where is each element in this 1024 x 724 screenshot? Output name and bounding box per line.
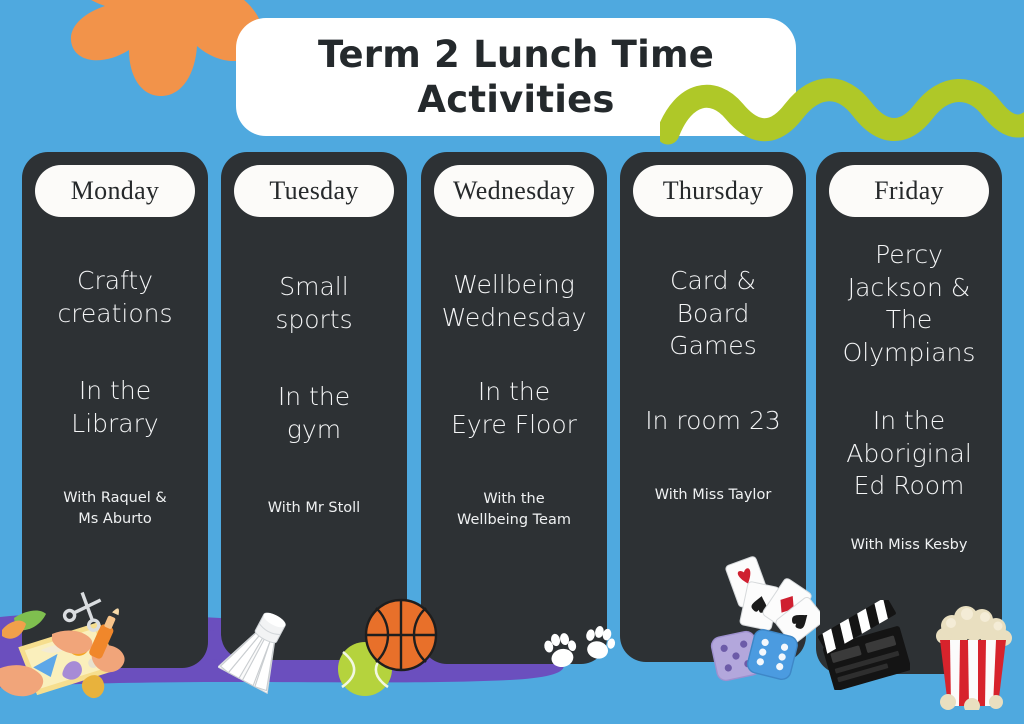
day-column-wednesday[interactable]: Wednesday WellbeingWednesday In theEyre … bbox=[421, 152, 607, 664]
day-name-tuesday: Tuesday bbox=[269, 176, 358, 206]
day-column-tuesday[interactable]: Tuesday Smallsports In thegym With Mr St… bbox=[221, 152, 407, 660]
day-name-thursday: Thursday bbox=[663, 176, 764, 206]
day-label-pill-friday: Friday bbox=[829, 165, 989, 217]
activity-location-friday: In theAboriginalEd Room bbox=[846, 405, 972, 503]
poster-canvas: Term 2 Lunch TimeActivities Monday Craft… bbox=[0, 0, 1024, 724]
activity-name-tuesday: Smallsports bbox=[275, 271, 352, 336]
day-name-friday: Friday bbox=[874, 176, 944, 206]
activity-name-thursday: Card &BoardGames bbox=[669, 265, 756, 363]
day-label-pill-tuesday: Tuesday bbox=[234, 165, 394, 217]
activity-staff-tuesday: With Mr Stoll bbox=[268, 498, 360, 519]
day-column-friday[interactable]: Friday PercyJackson &TheOlympians In the… bbox=[816, 152, 1002, 674]
day-name-monday: Monday bbox=[71, 176, 159, 206]
day-column-monday[interactable]: Monday Craftycreations In theLibrary Wit… bbox=[22, 152, 208, 668]
activity-name-friday: PercyJackson &TheOlympians bbox=[843, 239, 976, 369]
day-body-monday: Craftycreations In theLibrary With Raque… bbox=[22, 217, 208, 530]
activity-name-wednesday: WellbeingWednesday bbox=[442, 269, 587, 334]
day-label-pill-thursday: Thursday bbox=[633, 165, 793, 217]
activity-location-wednesday: In theEyre Floor bbox=[451, 376, 577, 441]
activity-location-monday: In theLibrary bbox=[71, 375, 158, 440]
activity-location-thursday: In room 23 bbox=[645, 405, 781, 438]
day-name-wednesday: Wednesday bbox=[453, 176, 575, 206]
activity-staff-monday: With Raquel &Ms Aburto bbox=[63, 488, 166, 530]
activity-staff-friday: With Miss Kesby bbox=[851, 535, 968, 556]
activity-staff-thursday: With Miss Taylor bbox=[655, 485, 772, 506]
day-label-pill-wednesday: Wednesday bbox=[434, 165, 594, 217]
activity-board: Monday Craftycreations In theLibrary Wit… bbox=[0, 0, 1024, 724]
day-body-tuesday: Smallsports In thegym With Mr Stoll bbox=[221, 217, 407, 519]
activity-name-monday: Craftycreations bbox=[57, 265, 172, 330]
activity-location-tuesday: In thegym bbox=[278, 381, 350, 446]
day-label-pill-monday: Monday bbox=[35, 165, 195, 217]
activity-staff-wednesday: With theWellbeing Team bbox=[457, 489, 571, 531]
day-body-thursday: Card &BoardGames In room 23 With Miss Ta… bbox=[620, 217, 806, 506]
day-body-wednesday: WellbeingWednesday In theEyre Floor With… bbox=[421, 217, 607, 531]
day-column-thursday[interactable]: Thursday Card &BoardGames In room 23 Wit… bbox=[620, 152, 806, 662]
day-body-friday: PercyJackson &TheOlympians In theAborigi… bbox=[816, 217, 1002, 556]
